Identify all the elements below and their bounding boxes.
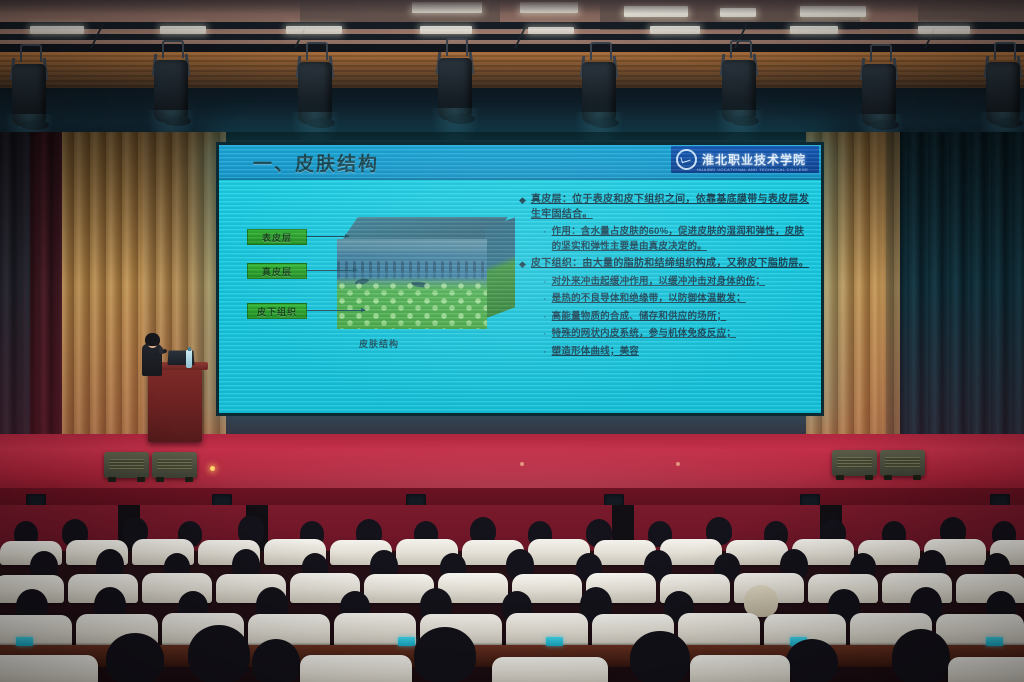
- bullet-item: · 特殊的网状内皮系统，参与机体免疫反应；: [543, 327, 811, 342]
- truss-light: [30, 26, 84, 34]
- bullet-item: · 是热的不良导体和绝缘带，以防御体温散发；: [543, 292, 811, 307]
- curtain-gold-right-sliver: [878, 132, 900, 472]
- light-housing: [582, 62, 616, 124]
- fat-cells: [337, 281, 487, 329]
- floor-monitor-speaker: [104, 452, 149, 478]
- college-logo-icon: [676, 149, 697, 170]
- light-lens: [447, 114, 475, 124]
- seat: [0, 615, 72, 647]
- label-leader-line: [307, 310, 365, 311]
- light-housing: [862, 64, 896, 126]
- diagram-front-face: [337, 239, 487, 329]
- bullet-text: 皮下组织：由大量的脂肪和结缔组织构成，又称皮下脂肪层。: [531, 257, 809, 272]
- curtain-teal-left-edge: [0, 132, 30, 472]
- floor-marker-light: [210, 466, 215, 471]
- bullet-marker-diamond-icon: ◆: [519, 257, 526, 272]
- bullet-item: · 对外来冲击起缓冲作用，以缓冲冲击对身体的伤；: [543, 275, 811, 290]
- light-lens: [21, 120, 49, 130]
- monitor-foot: [865, 475, 873, 480]
- bullet-text: 对外来冲击起缓冲作用，以缓冲冲击对身体的伤；: [552, 275, 765, 290]
- attendee-head: [106, 633, 164, 682]
- bullet-marker-dot-icon: ·: [543, 310, 547, 325]
- truss-light: [650, 26, 700, 34]
- bullet-text: 塑造形体曲线；美容: [552, 345, 639, 360]
- college-name-pinyin: HUAIBEI VOCATIONAL AND TECHNICAL COLLEGE: [697, 167, 808, 172]
- light-lens: [995, 118, 1023, 128]
- truss-light: [286, 26, 342, 34]
- light-yoke: [162, 40, 184, 58]
- desk-screen: [398, 637, 415, 646]
- light-lens: [591, 118, 619, 128]
- lighting-truss-rail: [0, 22, 1024, 29]
- monitor-foot: [108, 477, 116, 482]
- monitor-foot: [836, 475, 844, 480]
- attendee-head: [892, 629, 950, 682]
- bullet-marker-diamond-icon: ◆: [519, 193, 526, 222]
- bullet-marker-dot-icon: ·: [543, 292, 547, 307]
- light-yoke: [446, 38, 468, 56]
- microphone: [159, 347, 163, 354]
- seat: [690, 655, 790, 682]
- light-housing: [438, 58, 472, 120]
- floor-monitor-speaker: [880, 450, 925, 476]
- floor-monitor-speaker: [152, 452, 197, 478]
- college-name: 淮北职业技术学院: [702, 151, 806, 168]
- bullet-item: ◆ 皮下组织：由大量的脂肪和结缔组织构成，又称皮下脂肪层。: [519, 257, 811, 272]
- curtain-teal-right: [886, 132, 1024, 472]
- attendee-head: [252, 639, 300, 682]
- attendee-head: [188, 625, 250, 682]
- seat: [0, 655, 98, 682]
- podium: [148, 366, 202, 442]
- light-yoke: [730, 40, 752, 58]
- desk-screen: [16, 637, 33, 646]
- bullet-text: 特殊的网状内皮系统，参与机体免疫反应；: [552, 327, 736, 342]
- diagram-caption: 皮肤结构: [359, 337, 399, 350]
- bullet-text: 作用：含水量占皮肤的60%，促进皮肤的湿润和弹性，皮肤的坚实和弹性主要是由真皮决…: [552, 225, 811, 254]
- bullet-item: · 高能量物质的合成、储存和供应的场所；: [543, 310, 811, 325]
- slide-bullet-list: ◆ 真皮层：位于表皮和皮下组织之间，依靠基底膜带与表皮层发生牢固结合。 · 作用…: [519, 193, 811, 362]
- ceiling-shadow: [0, 0, 1024, 14]
- water-bottle: [186, 350, 192, 368]
- attendee-head: [414, 627, 476, 682]
- layer-label-epidermis: 表皮层: [247, 229, 307, 245]
- seat: [948, 657, 1024, 682]
- bullet-item: · 作用：含水量占皮肤的60%，促进皮肤的湿润和弹性，皮肤的坚实和弹性主要是由真…: [543, 225, 811, 254]
- floor-marker-light: [676, 462, 680, 466]
- light-housing: [154, 60, 188, 122]
- desk-screen: [986, 637, 1003, 646]
- lighting-truss-rail: [0, 34, 1024, 40]
- light-housing: [722, 60, 756, 122]
- slide-title-rule: [219, 178, 821, 180]
- light-yoke: [306, 42, 328, 60]
- bullet-text: 真皮层：位于表皮和皮下组织之间，依靠基底膜带与表皮层发生牢固结合。: [531, 193, 811, 222]
- slide-title: 一、皮肤结构: [253, 149, 379, 176]
- floor-monitor-speaker: [832, 450, 877, 476]
- light-lens: [163, 116, 191, 126]
- floor-marker-light: [520, 462, 524, 466]
- light-housing: [986, 62, 1020, 124]
- truss-light: [790, 26, 838, 34]
- truss-light: [918, 26, 970, 34]
- speaker-hair: [145, 333, 160, 346]
- slide-surface: 一、皮肤结构 淮北职业技术学院 HUAIBEI VOCATIONAL AND T…: [219, 145, 821, 413]
- dermal-junction-line: [337, 269, 487, 279]
- bullet-item: ◆ 真皮层：位于表皮和皮下组织之间，依靠基底膜带与表皮层发生牢固结合。: [519, 193, 811, 222]
- bullet-text: 是热的不良导体和绝缘带，以防御体温散发；: [552, 292, 746, 307]
- skin-cross-section-diagram: [337, 217, 515, 329]
- light-housing: [298, 62, 332, 124]
- light-lens: [871, 120, 899, 130]
- bullet-text: 高能量物质的合成、储存和供应的场所；: [552, 310, 727, 325]
- light-housing: [12, 64, 46, 126]
- layer-label-dermis: 真皮层: [247, 263, 307, 279]
- monitor-foot: [185, 477, 193, 482]
- seat: [678, 613, 760, 647]
- label-leader-line: [307, 236, 349, 237]
- layer-label-subcutaneous: 皮下组织: [247, 303, 307, 319]
- college-logo-bar: 淮北职业技术学院 HUAIBEI VOCATIONAL AND TECHNICA…: [671, 146, 819, 173]
- seat: [936, 614, 1024, 647]
- truss-light: [420, 26, 472, 34]
- bullet-marker-dot-icon: ·: [543, 327, 547, 342]
- bullet-marker-dot-icon: ·: [543, 345, 547, 360]
- desk-screen: [546, 637, 563, 646]
- auditorium-photo: 一、皮肤结构 淮北职业技术学院 HUAIBEI VOCATIONAL AND T…: [0, 0, 1024, 682]
- truss-light: [160, 26, 206, 34]
- led-screen[interactable]: 一、皮肤结构 淮北职业技术学院 HUAIBEI VOCATIONAL AND T…: [216, 142, 824, 416]
- light-yoke: [590, 42, 612, 60]
- light-lens: [307, 118, 335, 128]
- monitor-foot: [156, 477, 164, 482]
- bullet-marker-dot-icon: ·: [543, 275, 547, 290]
- monitor-foot: [137, 477, 145, 482]
- bullet-marker-dot-icon: ·: [543, 225, 547, 254]
- monitor-foot: [884, 475, 892, 480]
- truss-light: [528, 27, 574, 34]
- diagram-side-face: [485, 217, 515, 319]
- seat: [300, 655, 412, 682]
- light-lens: [731, 116, 759, 126]
- light-yoke: [994, 42, 1016, 60]
- bullet-item: · 塑造形体曲线；美容: [543, 345, 811, 360]
- light-yoke: [20, 44, 42, 62]
- seat: [492, 657, 608, 682]
- audience-area: [0, 505, 1024, 682]
- attendee-head: [786, 639, 838, 682]
- label-leader-line: [307, 270, 357, 271]
- light-yoke: [870, 44, 892, 62]
- monitor-foot: [913, 475, 921, 480]
- attendee-head: [630, 631, 690, 682]
